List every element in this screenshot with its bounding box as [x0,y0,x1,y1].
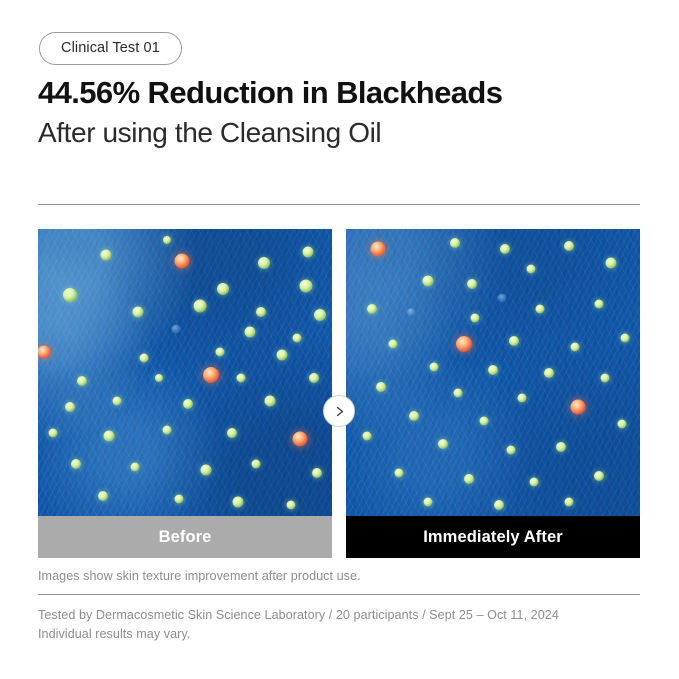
clinical-test-badge: Clinical Test 01 [39,32,182,65]
divider-top [38,204,640,205]
individual-results-line: Individual results may vary. [38,625,559,644]
divider-bottom [38,594,640,595]
uv-skin-image-before [38,229,332,516]
uv-skin-image-after [346,229,640,516]
pore-spot-group-after [346,229,640,516]
test-details-line: Tested by Dermacosmetic Skin Science Lab… [38,606,559,625]
page-subtitle: After using the Cleansing Oil [38,116,381,150]
clinical-test-card: Clinical Test 01 44.56% Reduction in Bla… [0,0,679,679]
before-after-comparison: Before [38,229,640,558]
chevron-right-icon [333,405,346,418]
caption-bar-after: Immediately After [346,516,640,558]
image-caption-note: Images show skin texture improvement aft… [38,568,361,584]
panel-after: Immediately After [346,229,640,558]
badge-label: Clinical Test 01 [61,41,160,56]
caption-label-after: Immediately After [423,529,563,546]
panel-before: Before [38,229,332,558]
pore-spot-group-before [38,229,332,516]
comparison-slider-handle[interactable] [323,395,355,427]
page-title: 44.56% Reduction in Blackheads [38,75,502,112]
caption-bar-before: Before [38,516,332,558]
test-disclaimer: Tested by Dermacosmetic Skin Science Lab… [38,606,559,644]
caption-label-before: Before [159,529,212,546]
